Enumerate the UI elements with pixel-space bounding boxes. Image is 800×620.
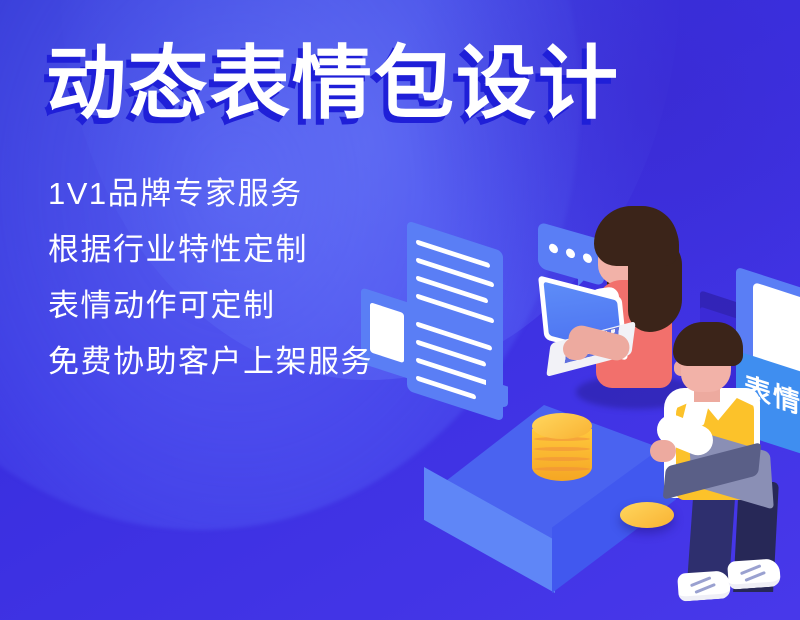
feature-item-1: 1V1品牌专家服务 <box>48 178 373 209</box>
feature-item-2: 根据行业特性定制 <box>48 234 373 265</box>
promo-banner: 表情 <box>0 0 800 620</box>
feature-item-4: 免费协助客户上架服务 <box>48 346 373 377</box>
page-title: 动态表情包设计 <box>46 44 620 124</box>
feature-list: 1V1品牌专家服务 根据行业特性定制 表情动作可定制 免费协助客户上架服务 <box>48 178 373 402</box>
feature-item-3: 表情动作可定制 <box>48 290 373 321</box>
headline-block: 动态表情包设计 <box>46 44 620 124</box>
